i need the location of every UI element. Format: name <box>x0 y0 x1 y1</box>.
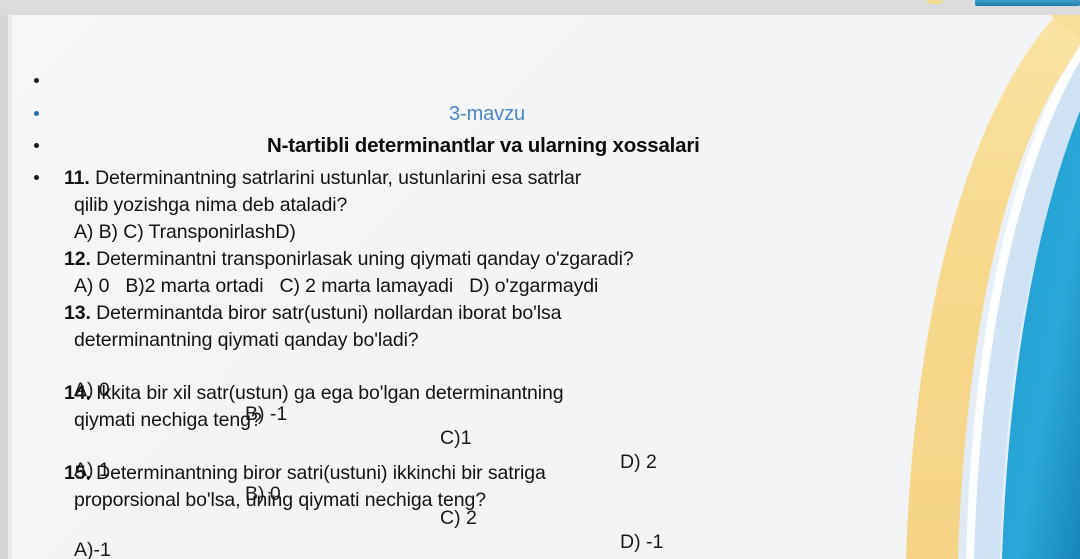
bullet-2-topic <box>34 111 39 116</box>
question-14-number: 14. <box>64 382 96 404</box>
question-11-line2: qilib yozishga nima deb ataladi? <box>74 193 347 217</box>
question-14-text1: Ikkita bir xil satr(ustun) ga ega bo'lga… <box>96 382 563 404</box>
question-11-text1: Determinantning satrlarini ustunlar, ust… <box>95 167 581 189</box>
presentation-viewer: 3-mavzu N-tartibli determinantlar va ula… <box>0 0 1080 559</box>
question-15-line1: 15. Determinantning biror satri(ustuni) … <box>64 461 546 485</box>
question-13-option-c: C)1 <box>440 426 471 450</box>
question-14-option-d: D) -1 <box>620 530 663 554</box>
question-13-option-d: D) 2 <box>620 450 657 474</box>
question-12-line1: 12. Determinantni transponirlasak uning … <box>64 247 634 271</box>
question-15-option-a: A)-1 <box>74 538 111 559</box>
slide-title: N-tartibli determinantlar va ularning xo… <box>267 134 700 158</box>
question-11-line1: 11. Determinantning satrlarini ustunlar,… <box>64 166 581 190</box>
slide-canvas: 3-mavzu N-tartibli determinantlar va ula… <box>12 15 1080 559</box>
question-12-text1: Determinantni transponirlasak uning qiym… <box>96 248 633 270</box>
question-14-line2: qiymati nechiga teng? <box>74 408 262 432</box>
viewer-top-chrome-strip <box>0 0 1080 15</box>
topic-label: 3-mavzu <box>449 102 525 126</box>
bullet-3-title <box>34 143 39 148</box>
question-13-line1: 13. Determinantda biror satr(ustuni) nol… <box>64 301 561 325</box>
question-13-text1: Determinantda biror satr(ustuni) nollard… <box>96 302 561 324</box>
question-13-number: 13. <box>64 302 96 324</box>
question-13-line2: determinantning qiymati qanday bo'ladi? <box>74 328 419 352</box>
question-11-number: 11. <box>64 167 95 189</box>
top-blue-accent-bar <box>975 0 1080 6</box>
bullet-4-question <box>34 175 39 180</box>
question-15-text1: Determinantning biror satri(ustuni) ikki… <box>96 462 546 484</box>
question-14-line1: 14. Ikkita bir xil satr(ustun) ga ega bo… <box>64 381 564 405</box>
question-11-answers: A) B) C) TransponirlashD) <box>74 220 296 244</box>
left-gray-rail <box>0 15 8 559</box>
question-12-answers: A) 0 B)2 marta ortadi C) 2 marta lamayad… <box>74 274 598 298</box>
bullet-1 <box>34 78 39 83</box>
question-15-options: A)-1 B) 1 C) 2 D) 0 <box>12 514 55 559</box>
slide-text-body: 3-mavzu N-tartibli determinantlar va ula… <box>12 15 942 559</box>
question-15-line2: proporsional bo'lsa, uning qiymati nechi… <box>74 488 486 512</box>
question-12-number: 12. <box>64 248 96 270</box>
top-gold-accent-tip <box>927 0 943 4</box>
question-15-number: 15. <box>64 462 96 484</box>
